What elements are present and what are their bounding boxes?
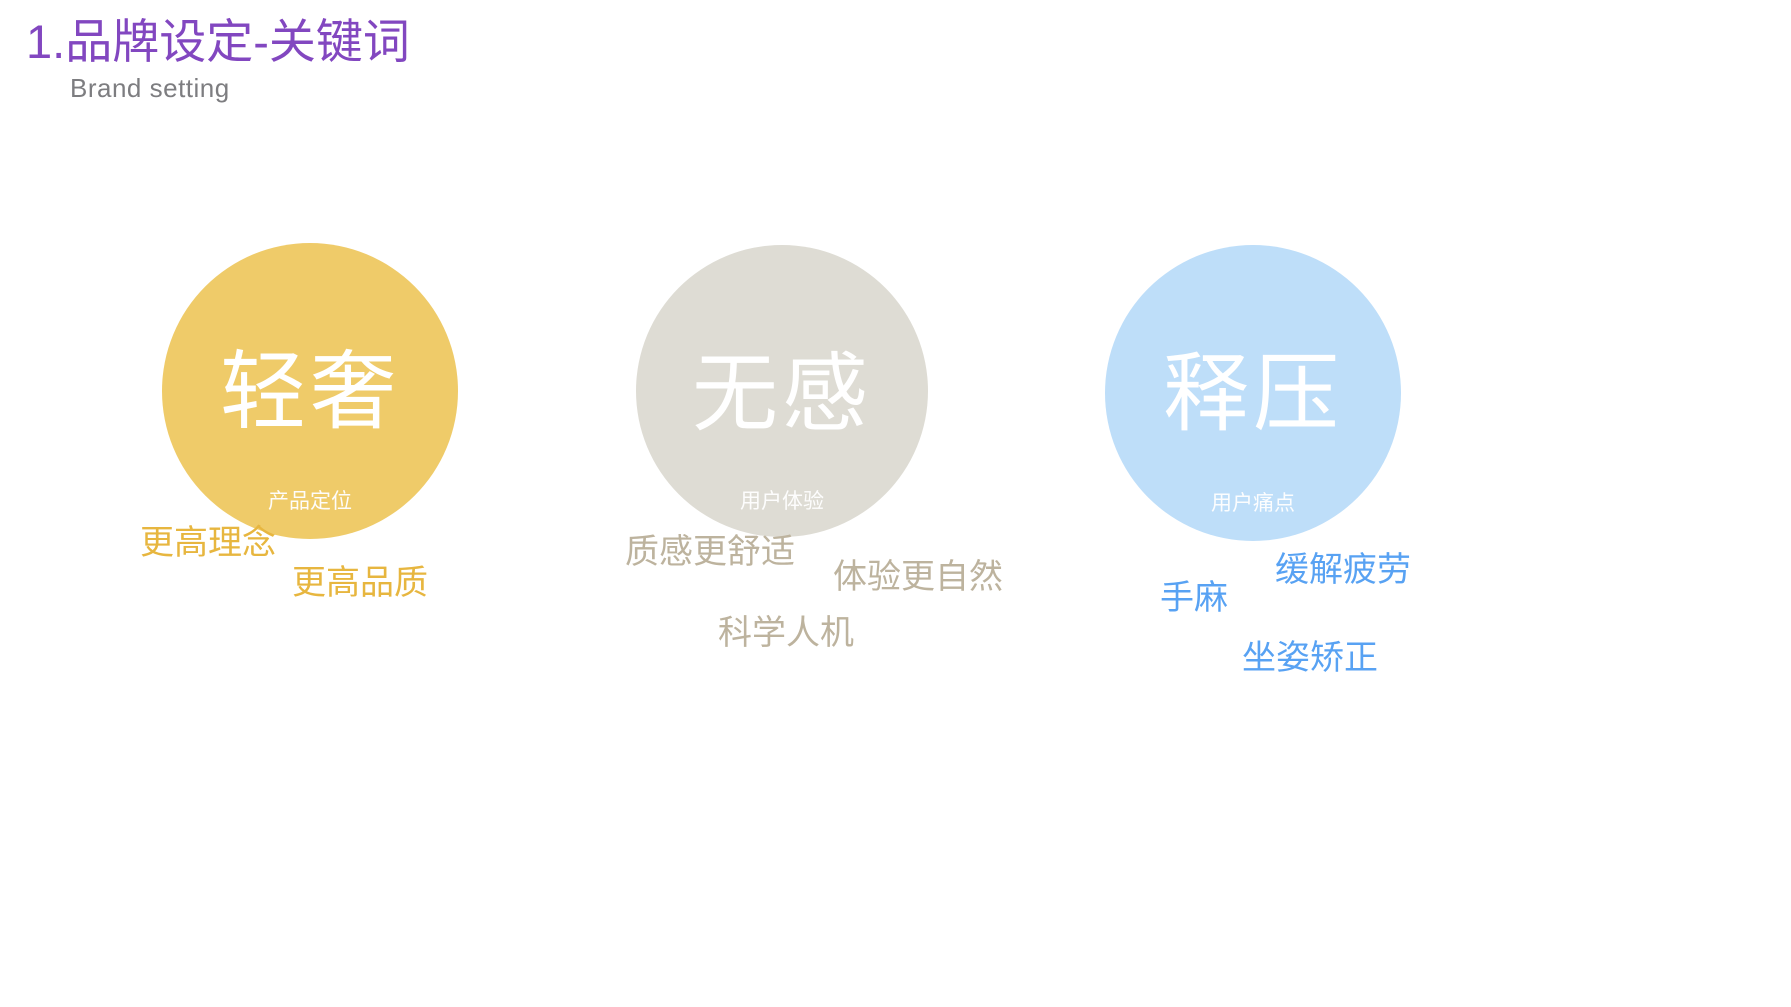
circle-sub-label: 用户体验 xyxy=(636,485,928,515)
keyword-label: 更高理念 xyxy=(140,526,276,560)
concept-circle-product-positioning[interactable]: 轻奢 产品定位 xyxy=(162,243,458,539)
circle-sub-label: 产品定位 xyxy=(162,485,458,515)
keyword-label: 手麻 xyxy=(1160,581,1228,615)
keyword-label: 质感更舒适 xyxy=(625,535,795,569)
circle-main-label: 释压 xyxy=(1105,323,1401,448)
circle-main-label: 轻奢 xyxy=(162,321,458,446)
keyword-label: 更高品质 xyxy=(292,566,428,600)
circle-sub-label: 用户痛点 xyxy=(1105,487,1401,517)
concept-circle-user-experience[interactable]: 无感 用户体验 xyxy=(636,245,928,537)
keyword-label: 缓解疲劳 xyxy=(1275,553,1411,587)
circle-main-label: 无感 xyxy=(636,323,928,448)
concept-circle-user-painpoints[interactable]: 释压 用户痛点 xyxy=(1105,245,1401,541)
keyword-group-user-painpoints: 释压 用户痛点 缓解疲劳 手麻 坐姿矫正 xyxy=(945,0,1565,1007)
keyword-label: 科学人机 xyxy=(718,616,854,650)
keyword-label: 坐姿矫正 xyxy=(1242,641,1378,675)
